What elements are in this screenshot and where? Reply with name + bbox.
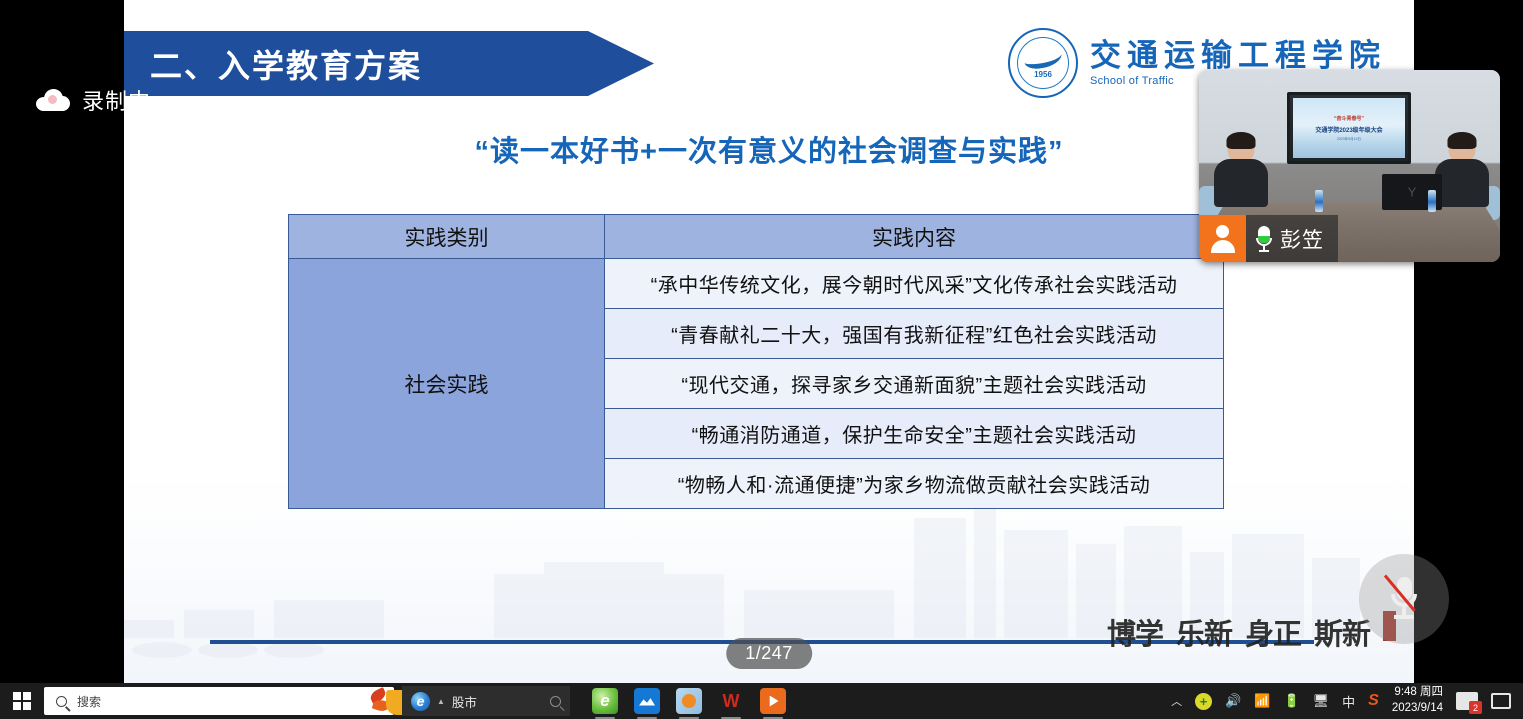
emblem-year: 1956 (1034, 70, 1052, 79)
volume-icon[interactable]: 🔊 (1225, 693, 1241, 709)
calligraphy-word: 乐新 (1176, 611, 1232, 653)
water-bottle (1428, 190, 1436, 212)
stock-widget[interactable]: ▲ 股市 (402, 686, 570, 716)
table-row: 社会实践 “承中华传统文化，展今朝时代风采”文化传承社会实践活动 (289, 259, 1224, 309)
microphone-icon (1256, 226, 1272, 252)
video-name-bar: 彭笠 (1199, 215, 1338, 262)
security-icon[interactable]: + (1195, 693, 1212, 710)
video-thumbnail[interactable]: “奋斗青春号” 交通学院2023级年级大会 2023年9月14日 (1199, 70, 1500, 262)
wps-icon[interactable] (718, 688, 744, 714)
battery-icon[interactable]: 🔋 (1283, 693, 1299, 709)
table-cell-content: “物畅人和·流通便捷”为家乡物流做贡献社会实践活动 (605, 459, 1224, 509)
table-cell-content: “现代交通，探寻家乡交通新面貌”主题社会实践活动 (605, 359, 1224, 409)
windows-logo-icon (13, 692, 31, 710)
school-name-cn: 交通运输工程学院 (1090, 40, 1386, 71)
search-input[interactable]: 搜索 (44, 687, 394, 715)
clock-date: 2023/9/14 (1392, 701, 1443, 717)
stock-widget-label: 股市 (452, 692, 543, 711)
calligraphy-word: 斯新 (1314, 611, 1370, 653)
participant-name: 彭笠 (1280, 224, 1324, 254)
display-icon[interactable]: 🖥 (1313, 693, 1330, 709)
system-tray: ︿ + 🔊 📶 🔋 🖥 中 S 9:48 周四 2023/9/14 2 (1171, 685, 1523, 716)
display-line-3: 2023年9月14日 (1337, 137, 1361, 142)
windows-taskbar: 搜索 ▲ 股市 ︿ + 🔊 📶 🔋 🖥 中 S (0, 683, 1523, 719)
table-cell-content: “承中华传统文化，展今朝时代风采”文化传承社会实践活动 (605, 259, 1224, 309)
notification-badge: 2 (1469, 701, 1482, 714)
clock[interactable]: 9:48 周四 2023/9/14 (1392, 685, 1443, 716)
cloud-icon (36, 89, 70, 111)
powerpoint-icon[interactable] (760, 688, 786, 714)
participant-figure (1213, 134, 1269, 204)
slide-section-title: 二、入学教育方案 (124, 41, 422, 87)
calligraphy-word: 博学 (1107, 611, 1163, 653)
mute-toggle-button[interactable] (1359, 554, 1449, 644)
meeting-room-display: “奋斗青春号” 交通学院2023级年级大会 2023年9月14日 (1287, 92, 1411, 164)
table-cell-content: “青春献礼二十大，强国有我新征程”红色社会实践活动 (605, 309, 1224, 359)
browser-ie-icon (411, 692, 430, 711)
screen-root: 二、入学教育方案 1956 交通运输工程学院 School of Traffic… (0, 0, 1523, 719)
calligraphy-word: 身正 (1245, 611, 1301, 653)
calligraphy-watermark: 博学 乐新 身正 斯新 (1107, 611, 1396, 653)
chevron-up-icon[interactable]: ︿ (1171, 693, 1182, 709)
recording-indicator: 录制中 (36, 84, 151, 116)
slide-section-banner: 二、入学教育方案 (124, 31, 654, 96)
chevron-up-icon: ▲ (437, 697, 445, 706)
table-cell-category: 社会实践 (289, 259, 605, 509)
water-bottle (1315, 190, 1323, 212)
recording-label: 录制中 (82, 84, 151, 116)
slide-counter: 1/247 (726, 638, 812, 669)
participant-figure (1434, 134, 1490, 204)
gallery-icon[interactable] (634, 688, 660, 714)
search-icon (56, 696, 67, 707)
mic-muted-icon (1390, 577, 1418, 621)
avatar-icon (1199, 215, 1246, 262)
ime-icon[interactable]: 中 (1342, 692, 1355, 711)
notification-icon[interactable]: 2 (1456, 692, 1478, 710)
display-line-2: 交通学院2023级年级大会 (1315, 125, 1382, 134)
wifi-icon[interactable]: 📶 (1254, 693, 1270, 709)
taskbar-apps (592, 688, 786, 714)
start-button[interactable] (0, 692, 44, 710)
browser-ie-icon[interactable] (592, 688, 618, 714)
display-line-1: “奋斗青春号” (1334, 115, 1364, 122)
search-placeholder: 搜索 (77, 693, 101, 710)
clock-time: 9:48 周四 (1392, 685, 1443, 701)
school-emblem-icon: 1956 (1008, 28, 1078, 98)
media-player-icon[interactable] (676, 688, 702, 714)
table-header-category: 实践类别 (289, 215, 605, 259)
table-cell-content: “畅通消防通道，保护生命安全”主题社会实践活动 (605, 409, 1224, 459)
sogou-ime-icon[interactable]: S (1368, 692, 1379, 710)
action-center-icon[interactable] (1491, 693, 1511, 709)
table-header-row: 实践类别 实践内容 (289, 215, 1224, 259)
practice-table: 实践类别 实践内容 社会实践 “承中华传统文化，展今朝时代风采”文化传承社会实践… (288, 214, 1224, 509)
search-icon[interactable] (550, 696, 561, 707)
table-header-content: 实践内容 (605, 215, 1224, 259)
